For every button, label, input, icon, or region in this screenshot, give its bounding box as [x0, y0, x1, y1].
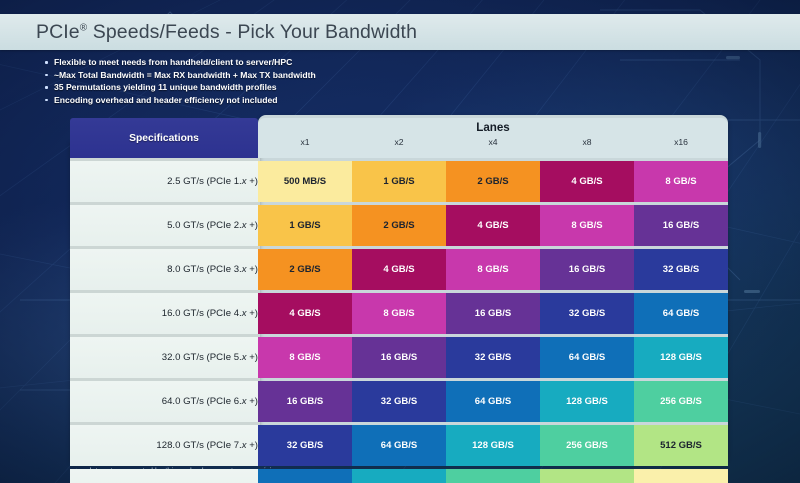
spec-cell: 32.0 GT/s (PCIe 5.x +) — [70, 337, 258, 378]
lane-label-x2: x2 — [352, 137, 446, 147]
table-row: 64.0 GT/s (PCIe 6.x +)16 GB/S32 GB/S64 G… — [70, 381, 728, 422]
title-text-after: Speeds/Feeds - Pick Your Bandwidth — [87, 21, 417, 43]
bandwidth-cell: 512 GB/S — [540, 469, 634, 483]
bullet-list: Flexible to meet needs from handheld/cli… — [44, 56, 514, 106]
bandwidth-cell: 8 GB/S — [258, 337, 352, 378]
bandwidth-cell: 4 GB/S — [540, 161, 634, 202]
slide-title-bar: PCIe® Speeds/Feeds - Pick Your Bandwidth — [0, 14, 800, 50]
bandwidth-cell: 128 GB/S — [446, 425, 540, 466]
list-item: Flexible to meet needs from handheld/cli… — [44, 56, 514, 69]
bandwidth-cell: 64 GB/S — [446, 381, 540, 422]
slide-canvas: PCIe® Speeds/Feeds - Pick Your Bandwidth… — [0, 0, 800, 483]
list-item: Encoding overhead and header efficiency … — [44, 94, 514, 107]
bandwidth-cell: 8 GB/S — [446, 249, 540, 290]
lane-label-x1: x1 — [258, 137, 352, 147]
list-item: 35 Permutations yielding 11 unique bandw… — [44, 81, 514, 94]
table-row: 256.0 GT/s (PCIe 8.x +)64 GB/S128 GB/S25… — [70, 469, 728, 483]
bandwidth-table-head: Specifications Lanes x1 x2 x4 x8 x16 — [70, 118, 728, 158]
bandwidth-cell: 32 GB/S — [258, 425, 352, 466]
table-row: 16.0 GT/s (PCIe 4.x +)4 GB/S8 GB/S16 GB/… — [70, 293, 728, 334]
bandwidth-cell: 32 GB/S — [634, 249, 728, 290]
bandwidth-cell: 8 GB/S — [540, 205, 634, 246]
spec-cell: 16.0 GT/s (PCIe 4.x +) — [70, 293, 258, 334]
bandwidth-cell: 512 GB/S — [634, 425, 728, 466]
lanes-title: Lanes — [258, 118, 728, 134]
spec-cell: 2.5 GT/s (PCIe 1.x +) — [70, 161, 258, 202]
lane-label-row: x1 x2 x4 x8 x16 — [258, 137, 728, 147]
bandwidth-cell: 16 GB/S — [540, 249, 634, 290]
bandwidth-cell: 1 GB/S — [258, 205, 352, 246]
bandwidth-cell: 32 GB/S — [446, 337, 540, 378]
bandwidth-cell: 32 GB/S — [540, 293, 634, 334]
bandwidth-cell: 64 GB/S — [352, 425, 446, 466]
list-item: ~Max Total Bandwidth = Max RX bandwidth … — [44, 69, 514, 82]
lane-label-x4: x4 — [446, 137, 540, 147]
bandwidth-table-container: Specifications Lanes x1 x2 x4 x8 x16 2.5… — [70, 115, 728, 483]
bandwidth-cell: 16 GB/S — [634, 205, 728, 246]
spec-cell: 5.0 GT/s (PCIe 2.x +) — [70, 205, 258, 246]
bandwidth-cell: 500 MB/S — [258, 161, 352, 202]
bandwidth-cell: 256 GB/S — [540, 425, 634, 466]
bandwidth-cell: 64 GB/S — [258, 469, 352, 483]
bandwidth-cell: 32 GB/S — [352, 381, 446, 422]
bandwidth-cell: 64 GB/S — [634, 293, 728, 334]
spec-cell: 8.0 GT/s (PCIe 3.x +) — [70, 249, 258, 290]
bandwidth-cell: 1 TB/S — [634, 469, 728, 483]
bandwidth-cell: 2 GB/S — [258, 249, 352, 290]
bandwidth-cell: 128 GB/S — [352, 469, 446, 483]
table-row: 2.5 GT/s (PCIe 1.x +)500 MB/S1 GB/S2 GB/… — [70, 161, 728, 202]
title-text-before: PCIe — [36, 21, 80, 43]
lane-label-x16: x16 — [634, 137, 728, 147]
spec-cell: 256.0 GT/s (PCIe 8.x +) — [70, 469, 258, 483]
bandwidth-cell: 4 GB/S — [258, 293, 352, 334]
bandwidth-cell: 8 GB/S — [634, 161, 728, 202]
bandwidth-cell: 128 GB/S — [540, 381, 634, 422]
table-header-row: Specifications Lanes x1 x2 x4 x8 x16 — [70, 118, 728, 158]
table-row: 128.0 GT/s (PCIe 7.x +)32 GB/S64 GB/S128… — [70, 425, 728, 466]
bandwidth-table: Specifications Lanes x1 x2 x4 x8 x16 2.5… — [70, 115, 728, 483]
bandwidth-table-body: 2.5 GT/s (PCIe 1.x +)500 MB/S1 GB/S2 GB/… — [70, 161, 728, 483]
column-header-specifications: Specifications — [70, 118, 258, 158]
column-header-lanes: Lanes x1 x2 x4 x8 x16 — [258, 118, 728, 158]
bandwidth-cell: 256 GB/S — [634, 381, 728, 422]
bandwidth-cell: 4 GB/S — [446, 205, 540, 246]
bullet-list-items: Flexible to meet needs from handheld/cli… — [44, 56, 514, 106]
spec-cell: 64.0 GT/s (PCIe 6.x +) — [70, 381, 258, 422]
bandwidth-cell: 4 GB/S — [352, 249, 446, 290]
bandwidth-cell: 256 GB/S — [446, 469, 540, 483]
bandwidth-cell: 1 GB/S — [352, 161, 446, 202]
bandwidth-cell: 128 GB/S — [634, 337, 728, 378]
bandwidth-cell: 16 GB/S — [446, 293, 540, 334]
page-title: PCIe® Speeds/Feeds - Pick Your Bandwidth — [36, 21, 417, 44]
lane-label-x8: x8 — [540, 137, 634, 147]
bandwidth-cell: 16 GB/S — [352, 337, 446, 378]
table-row: 32.0 GT/s (PCIe 5.x +)8 GB/S16 GB/S32 GB… — [70, 337, 728, 378]
bandwidth-cell: 16 GB/S — [258, 381, 352, 422]
bandwidth-cell: 2 GB/S — [352, 205, 446, 246]
bandwidth-cell: 2 GB/S — [446, 161, 540, 202]
bandwidth-cell: 8 GB/S — [352, 293, 446, 334]
bandwidth-cell: 64 GB/S — [540, 337, 634, 378]
table-row: 8.0 GT/s (PCIe 3.x +)2 GB/S4 GB/S8 GB/S1… — [70, 249, 728, 290]
table-row: 5.0 GT/s (PCIe 2.x +)1 GB/S2 GB/S4 GB/S8… — [70, 205, 728, 246]
spec-cell: 128.0 GT/s (PCIe 7.x +) — [70, 425, 258, 466]
